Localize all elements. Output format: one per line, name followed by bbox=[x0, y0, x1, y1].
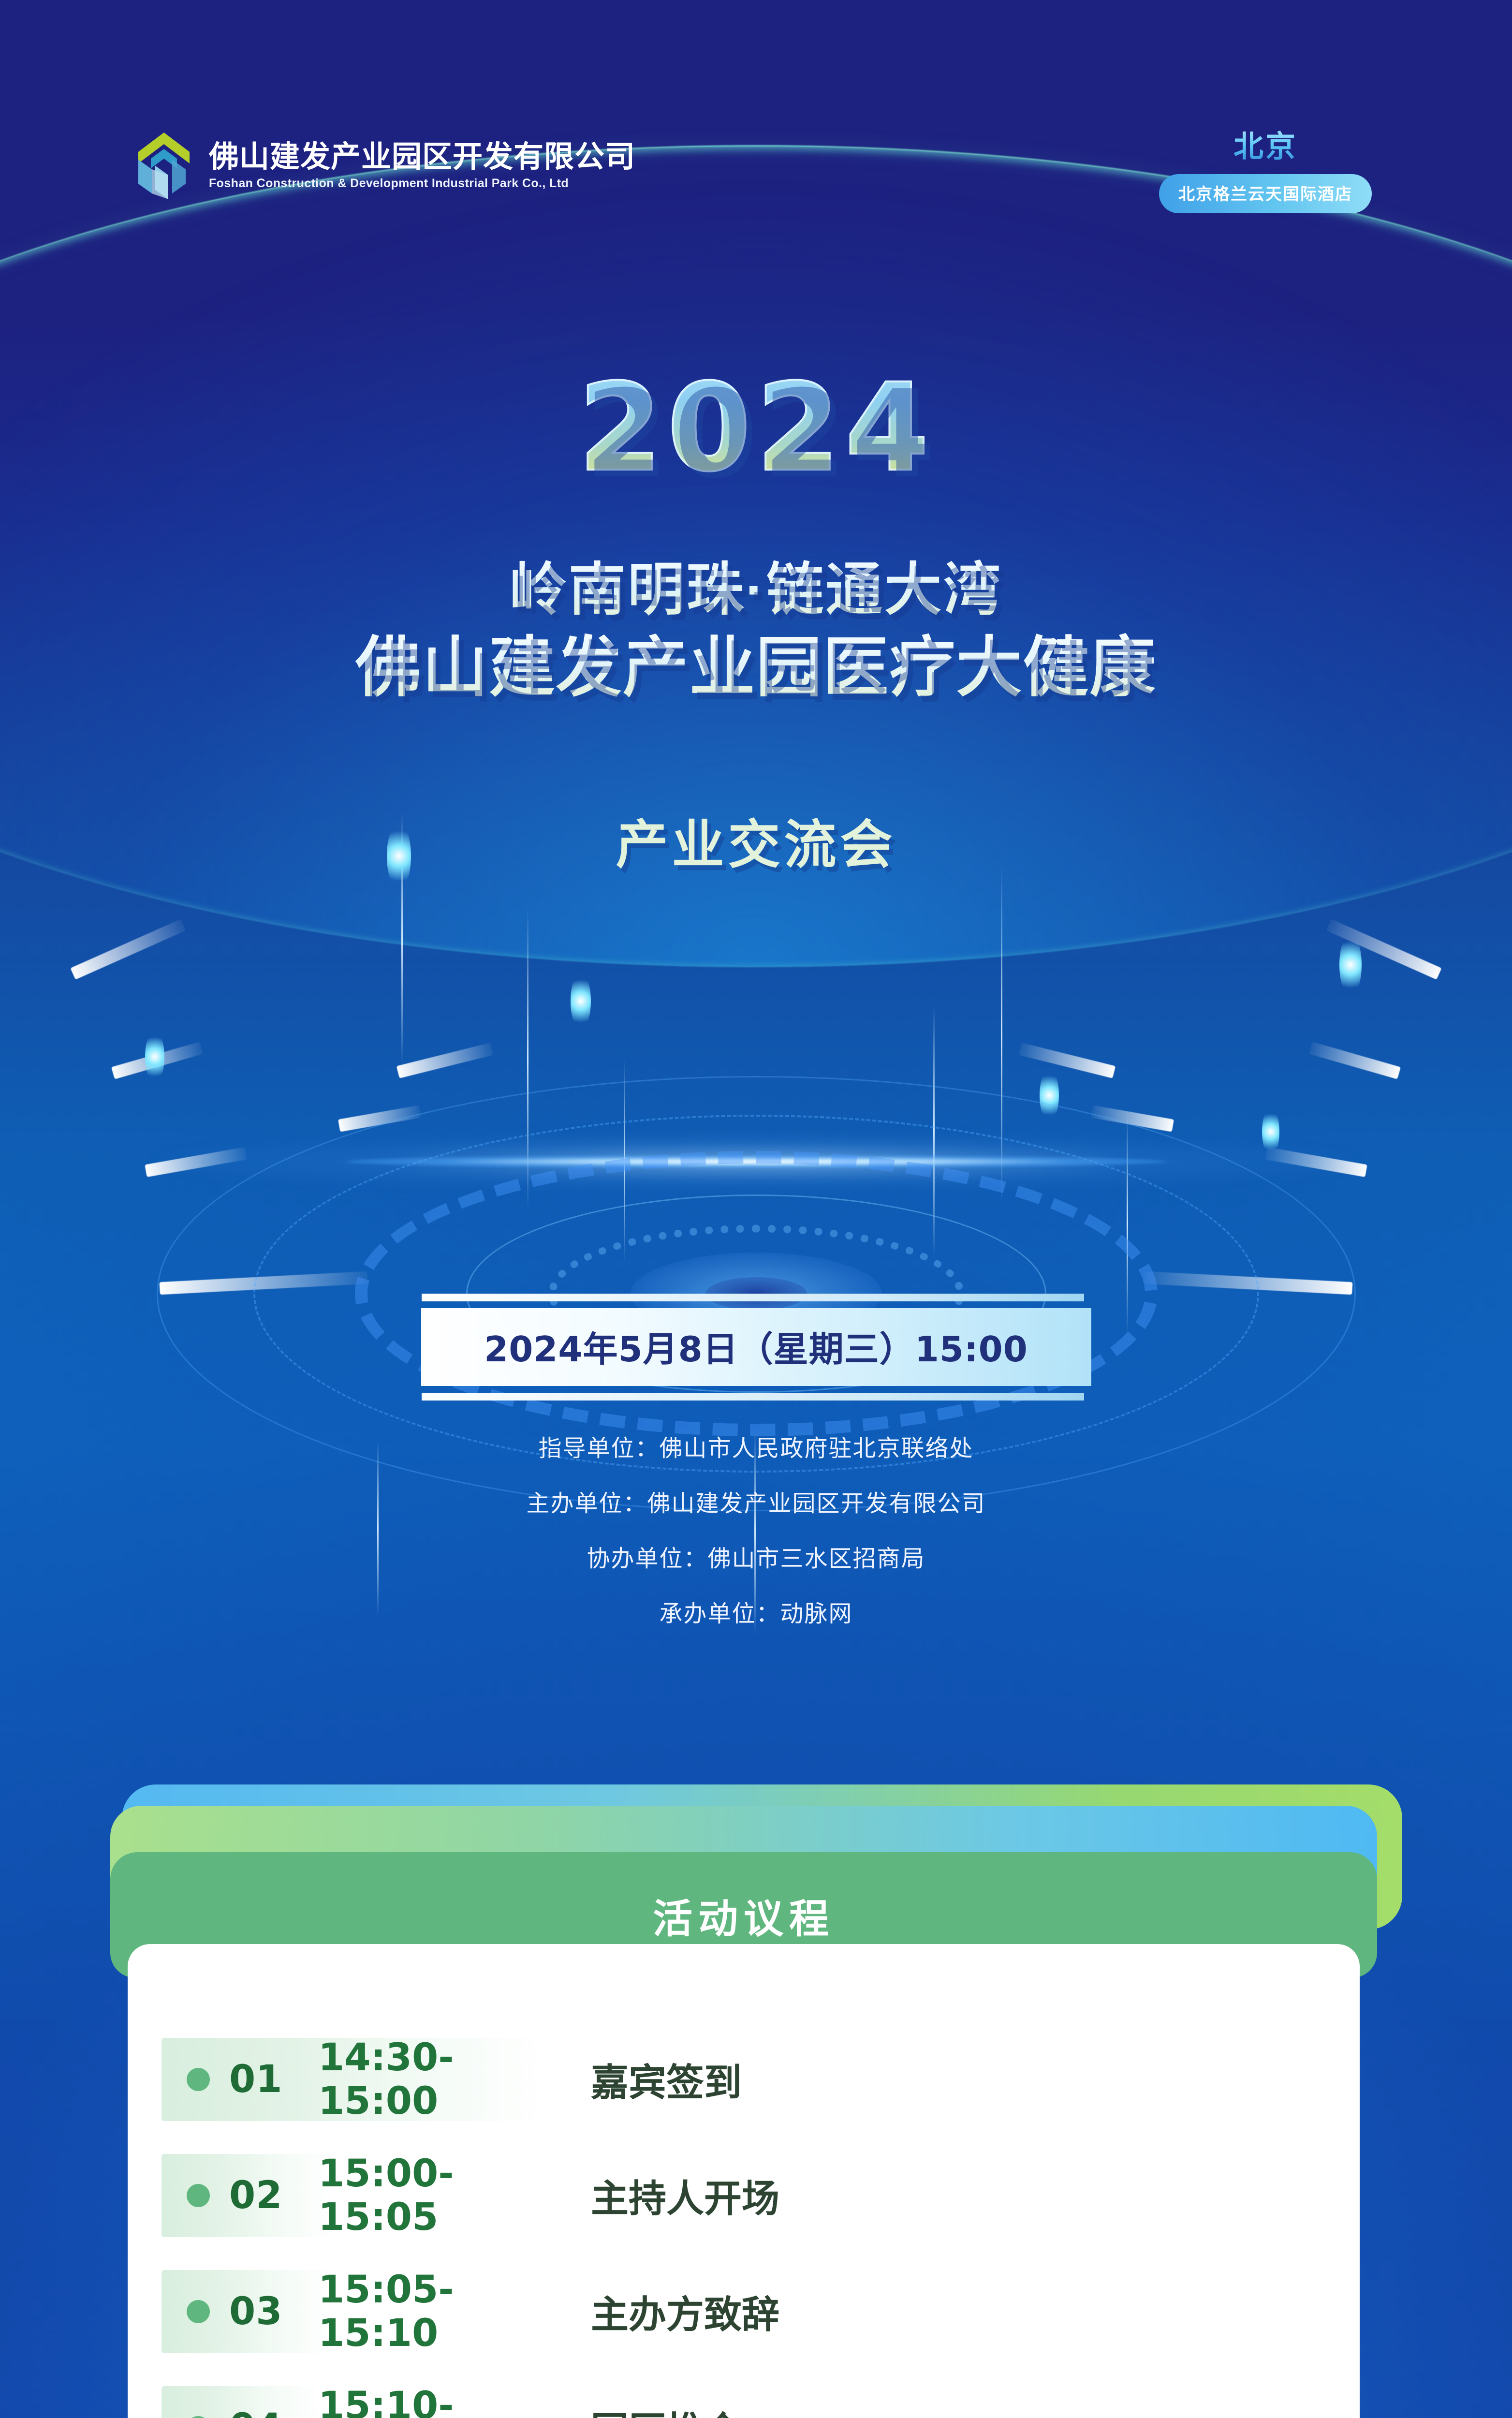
light-spark bbox=[571, 972, 591, 1030]
bullet-dot-icon bbox=[187, 2300, 210, 2323]
light-spark bbox=[1040, 1069, 1059, 1122]
row-index: 03 bbox=[229, 2290, 292, 2333]
row-time: 15:05-15:10 bbox=[318, 2268, 570, 2355]
bullet-dot-icon bbox=[187, 2416, 210, 2418]
light-dash bbox=[1145, 1271, 1353, 1295]
row-topic: 主持人开场 bbox=[591, 2168, 779, 2223]
organizer-list: 指导单位：佛山市人民政府驻北京联络处 主办单位：佛山建发产业园区开发有限公司 协… bbox=[0, 1429, 1512, 1650]
agenda-row[interactable]: 04 15:10-15:40 园区推介 bbox=[128, 2370, 1360, 2418]
row-topic: 园区推介 bbox=[591, 2401, 742, 2418]
bullet-dot-icon bbox=[187, 2184, 210, 2207]
light-spark bbox=[1339, 933, 1362, 996]
datetime-bar: 2024年5月8日（星期三）15:00 bbox=[421, 1308, 1091, 1386]
agenda-heading: 活动议程 bbox=[653, 1887, 835, 1944]
organizer-line: 协办单位：佛山市三水区招商局 bbox=[0, 1539, 1512, 1573]
title-line-1: 岭南明珠·链通大湾 bbox=[0, 556, 1512, 625]
row-index: 01 bbox=[229, 2058, 292, 2101]
light-dash bbox=[145, 1147, 247, 1177]
row-time: 15:00-15:05 bbox=[318, 2152, 570, 2239]
agenda-body: 01 14:30-15:00 嘉宾签到 02 15:00-15:05 主持人开场 bbox=[128, 1944, 1360, 2418]
bullet-dot-icon bbox=[187, 2068, 210, 2091]
company-name-en: Foshan Construction & Development Indust… bbox=[209, 177, 635, 191]
vertical-beam bbox=[1001, 866, 1002, 1204]
row-index: 04 bbox=[229, 2406, 292, 2418]
light-dash bbox=[338, 1105, 421, 1132]
light-dash bbox=[1265, 1147, 1367, 1177]
location-block: 北京 北京格兰云天国际酒店 bbox=[1159, 122, 1372, 213]
datetime-banner: 2024年5月8日（星期三）15:00 bbox=[0, 1294, 1512, 1401]
agenda-row[interactable]: 02 15:00-15:05 主持人开场 bbox=[128, 2138, 1360, 2254]
light-spark bbox=[145, 1030, 164, 1083]
light-spark bbox=[1262, 1107, 1279, 1156]
organizer-line: 指导单位：佛山市人民政府驻北京联络处 bbox=[0, 1429, 1512, 1463]
datetime-text: 2024年5月8日（星期三）15:00 bbox=[484, 1329, 1028, 1370]
company-name-cn: 佛山建发产业园区开发有限公司 bbox=[209, 141, 635, 173]
light-dash bbox=[1309, 1042, 1401, 1079]
agenda-row[interactable]: 01 14:30-15:00 嘉宾签到 bbox=[128, 2021, 1360, 2138]
agenda-row[interactable]: 03 15:05-15:10 主办方致辞 bbox=[128, 2254, 1360, 2370]
row-time: 15:10-15:40 bbox=[318, 2384, 570, 2418]
poster-canvas: 佛山建发产业园区开发有限公司 Foshan Construction & Dev… bbox=[0, 0, 1512, 2418]
row-index: 02 bbox=[229, 2174, 292, 2217]
venue-badge: 北京格兰云天国际酒店 bbox=[1159, 174, 1372, 213]
light-dash bbox=[1091, 1105, 1174, 1132]
light-dash bbox=[160, 1271, 368, 1295]
city-label: 北京 bbox=[1159, 122, 1372, 165]
event-title: 岭南明珠·链通大湾 佛山建发产业园医疗大健康 bbox=[0, 556, 1512, 708]
vertical-beam bbox=[527, 909, 528, 1209]
row-time: 14:30-15:00 bbox=[318, 2036, 570, 2123]
brand-logo-text: 佛山建发产业园区开发有限公司 Foshan Construction & Dev… bbox=[209, 141, 635, 190]
light-dash bbox=[71, 919, 186, 979]
vertical-beam bbox=[624, 1059, 625, 1262]
row-topic: 嘉宾签到 bbox=[591, 2052, 742, 2107]
banner-cap-top bbox=[422, 1294, 1084, 1301]
foshan-park-logo-icon bbox=[135, 130, 192, 202]
brand-logo: 佛山建发产业园区开发有限公司 Foshan Construction & Dev… bbox=[135, 130, 635, 202]
vertical-beam bbox=[933, 1006, 935, 1257]
row-topic: 主办方致辞 bbox=[591, 2285, 779, 2339]
title-line-2: 佛山建发产业园医疗大健康 bbox=[0, 628, 1512, 708]
light-dash bbox=[396, 1043, 493, 1078]
organizer-line: 主办单位：佛山建发产业园区开发有限公司 bbox=[0, 1484, 1512, 1518]
poster-header: 佛山建发产业园区开发有限公司 Foshan Construction & Dev… bbox=[0, 130, 1512, 226]
banner-cap-bottom bbox=[422, 1393, 1084, 1401]
organizer-line: 承办单位：动脉网 bbox=[0, 1594, 1512, 1628]
event-year: 2024 bbox=[0, 368, 1512, 488]
title-line-3: 产业交流会 bbox=[0, 803, 1512, 878]
light-dash bbox=[1019, 1043, 1116, 1078]
